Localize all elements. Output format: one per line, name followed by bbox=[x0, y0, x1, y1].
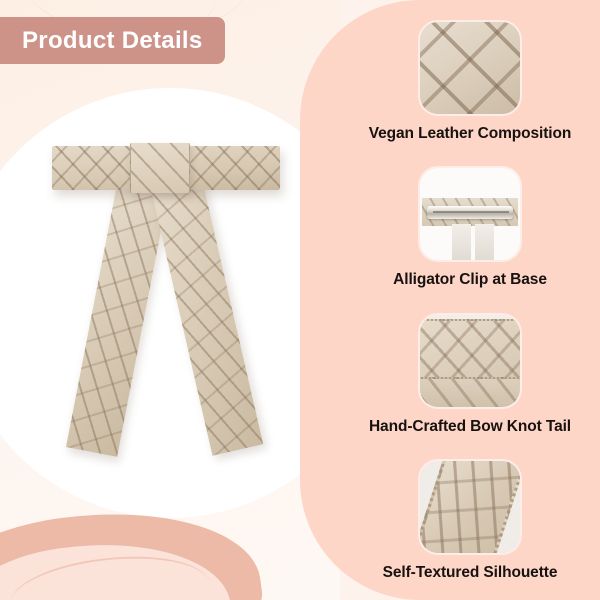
bow-center-knot bbox=[130, 143, 190, 193]
self-textured-silhouette-thumbnail bbox=[420, 461, 520, 553]
bow-knot-tail-thumbnail bbox=[420, 315, 520, 407]
page-title: Product Details bbox=[22, 27, 203, 55]
feature-label: Vegan Leather Composition bbox=[369, 125, 571, 143]
feature-item-self-textured-silhouette[interactable]: Self-Textured Silhouette bbox=[340, 461, 600, 582]
vegan-leather-texture-thumbnail bbox=[420, 22, 520, 114]
feature-list: Vegan Leather Composition Alligator Clip… bbox=[340, 0, 600, 600]
main-product-image bbox=[0, 0, 340, 600]
strap-scene-art bbox=[420, 461, 520, 553]
feature-item-hand-crafted-bow-knot-tail[interactable]: Hand-Crafted Bow Knot Tail bbox=[340, 315, 600, 436]
feature-item-vegan-leather-composition[interactable]: Vegan Leather Composition bbox=[340, 22, 600, 143]
feature-item-alligator-clip-at-base[interactable]: Alligator Clip at Base bbox=[340, 168, 600, 289]
clip-scene-art bbox=[420, 168, 520, 260]
diagonal-strap-art bbox=[420, 461, 520, 553]
knot-under-art bbox=[420, 377, 520, 407]
page-title-banner: Product Details bbox=[0, 17, 225, 64]
weave-texture-art bbox=[420, 22, 520, 114]
feature-label: Alligator Clip at Base bbox=[393, 271, 547, 289]
bow-tail-right bbox=[151, 176, 264, 456]
alligator-clip-thumbnail bbox=[420, 168, 520, 260]
knot-block-art bbox=[420, 319, 520, 385]
clip-tail-right-art bbox=[475, 224, 494, 260]
clip-tail-left-art bbox=[452, 224, 471, 260]
knot-scene-art bbox=[420, 315, 520, 407]
feature-label: Self-Textured Silhouette bbox=[383, 564, 558, 582]
bow-tail-left bbox=[66, 177, 170, 457]
metal-clip-icon bbox=[427, 206, 513, 219]
product-details-infographic: Product Details Vegan Leather Compositio… bbox=[0, 0, 600, 600]
feature-label: Hand-Crafted Bow Knot Tail bbox=[369, 418, 571, 436]
